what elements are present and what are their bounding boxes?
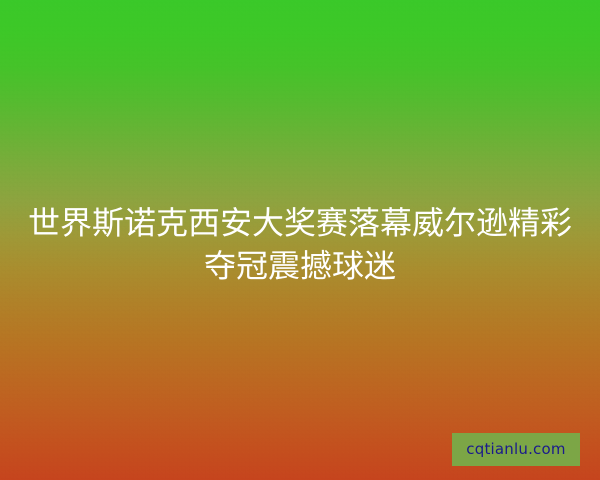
watermark-badge: cqtianlu.com [452, 433, 580, 466]
page-title: 世界斯诺克西安大奖赛落幕威尔逊精彩夺冠震撼球迷 [0, 202, 600, 288]
banner-image: 世界斯诺克西安大奖赛落幕威尔逊精彩夺冠震撼球迷 cqtianlu.com [0, 0, 600, 480]
watermark-label: cqtianlu.com [466, 442, 565, 457]
